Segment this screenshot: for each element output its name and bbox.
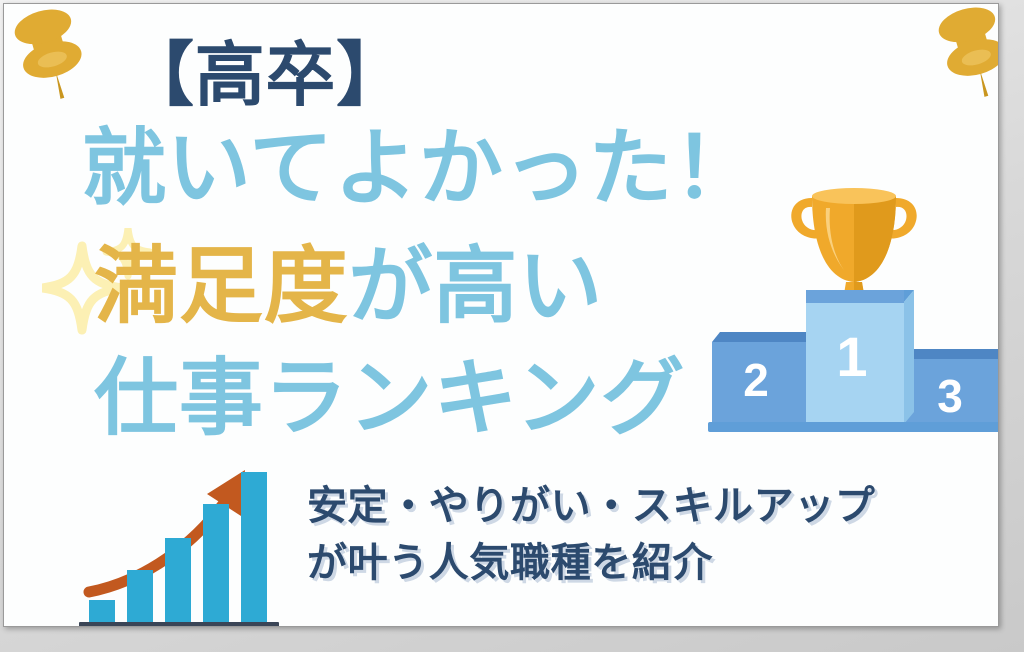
subtitle-line-1: 安定・やりがい・スキルアップ <box>307 478 999 535</box>
headline-tag: 【高卒】 <box>124 40 407 110</box>
bar-5 <box>241 472 267 622</box>
headline-line-1: 就いてよかった！ <box>82 126 758 210</box>
bar-4 <box>203 504 229 622</box>
headline-line-2-blue: が高い <box>349 239 604 333</box>
bar-3 <box>165 538 191 622</box>
headline-line-2: 満足度が高い <box>94 244 603 328</box>
headline-line-2-gold: 満足度 <box>94 239 349 333</box>
pushpin-icon <box>12 8 86 104</box>
subtitle-line-2: が叶う人気職種を紹介 <box>307 535 999 592</box>
bar-2 <box>127 570 153 622</box>
podium-illustration: 2 3 1 <box>694 164 999 434</box>
podium-number-first: 1 <box>836 325 867 388</box>
bar-1 <box>89 600 115 622</box>
pushpin-icon <box>936 6 999 102</box>
podium-block-second: 2 <box>712 332 820 424</box>
growth-chart-illustration <box>79 452 319 627</box>
podium-number-second: 2 <box>743 354 769 406</box>
slide-frame: 【高卒】 就いてよかった！ 満足度が高い 仕事ランキング 安定・やりがい・スキル… <box>0 0 1024 652</box>
podium-block-first: 1 <box>806 290 914 424</box>
podium-number-third: 3 <box>937 370 963 422</box>
subtitle-block: 安定・やりがい・スキルアップ が叶う人気職種を紹介 <box>307 478 999 592</box>
slide-canvas: 【高卒】 就いてよかった！ 満足度が高い 仕事ランキング 安定・やりがい・スキル… <box>3 3 999 627</box>
headline-line-3: 仕事ランキング <box>94 356 685 440</box>
chart-baseline <box>79 622 279 627</box>
